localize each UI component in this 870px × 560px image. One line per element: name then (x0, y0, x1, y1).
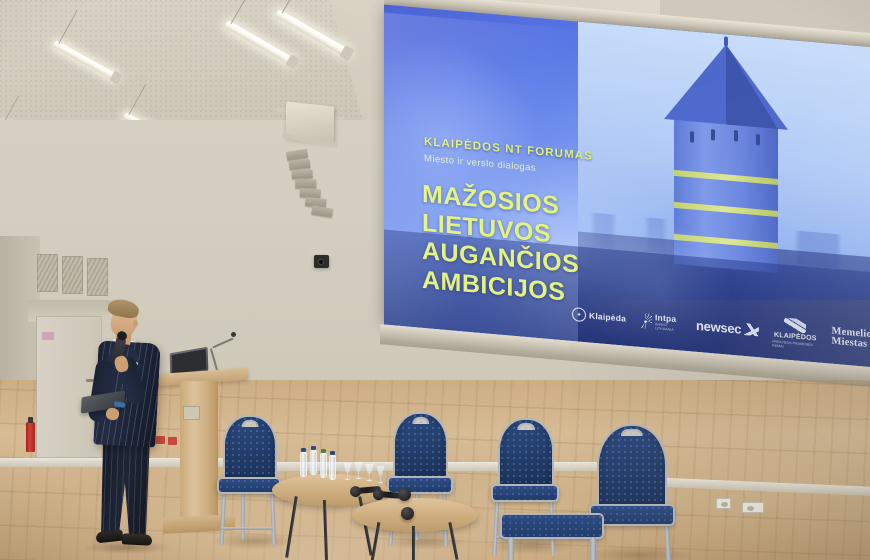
tower-window (734, 130, 738, 141)
slide-headline: MAŽOSIOS LIETUVOS AUGANČIOS AMBICIJOS (422, 180, 579, 308)
door-pictogram-sign (42, 332, 54, 340)
chair-back-handle (517, 423, 535, 430)
bottle-cap (321, 449, 326, 453)
table-leg (412, 526, 415, 560)
chair-leg (508, 537, 514, 560)
fire-extinguisher (26, 422, 35, 452)
chair-leg (241, 491, 245, 539)
water-bottle (310, 450, 317, 475)
chair-backrest (498, 418, 554, 488)
bottle-cap (311, 446, 316, 450)
water-bottle (329, 455, 336, 480)
speaker-module (295, 179, 316, 188)
tower-window (711, 129, 715, 140)
chair-seat (491, 484, 559, 502)
tower-roof-shadow (726, 44, 778, 129)
chair-seat (387, 476, 453, 494)
chair-back-handle (412, 417, 429, 424)
chair-backrest (393, 412, 448, 480)
speaker-module (311, 206, 333, 218)
tower-finial (724, 36, 728, 46)
water-bottle (320, 453, 327, 478)
presenter-shoe-right (122, 533, 153, 546)
speaker-module (289, 159, 311, 170)
water-bottle (300, 452, 307, 477)
bottle-cap (330, 451, 335, 455)
presenter-ear (133, 320, 138, 327)
chair-rail (221, 527, 273, 530)
ventilation-grille (62, 256, 83, 294)
handheld-microphone-head (398, 488, 411, 501)
bottle-cap (301, 448, 306, 452)
lectern-control-panel[interactable] (183, 406, 200, 420)
table-leg (323, 500, 328, 560)
chair-back-handle (242, 420, 259, 427)
handheld-microphone-head (401, 507, 414, 520)
chair-backrest (223, 415, 277, 481)
table-top (352, 498, 478, 532)
conference-hall-photo: KLAIPĖDOS NT FORUMAS Miesto ir verslo di… (0, 0, 870, 560)
presenter (78, 298, 173, 556)
gooseneck-microphone-capsule (231, 332, 236, 337)
camera-lens-icon (318, 259, 324, 265)
table-leg (285, 496, 298, 558)
side-table (352, 498, 478, 560)
ventilation-grille (87, 258, 108, 296)
table-leg (371, 522, 381, 560)
ventilation-grille (37, 254, 58, 292)
ceiling-camera-icon (314, 255, 329, 268)
lectern-column (180, 381, 218, 521)
tower-window (756, 134, 760, 145)
microphone-head-icon (350, 485, 362, 497)
wall-shadow-right (570, 300, 870, 560)
presenter-trousers (100, 438, 152, 536)
speaker-module (291, 169, 312, 179)
tower-window (690, 131, 694, 142)
